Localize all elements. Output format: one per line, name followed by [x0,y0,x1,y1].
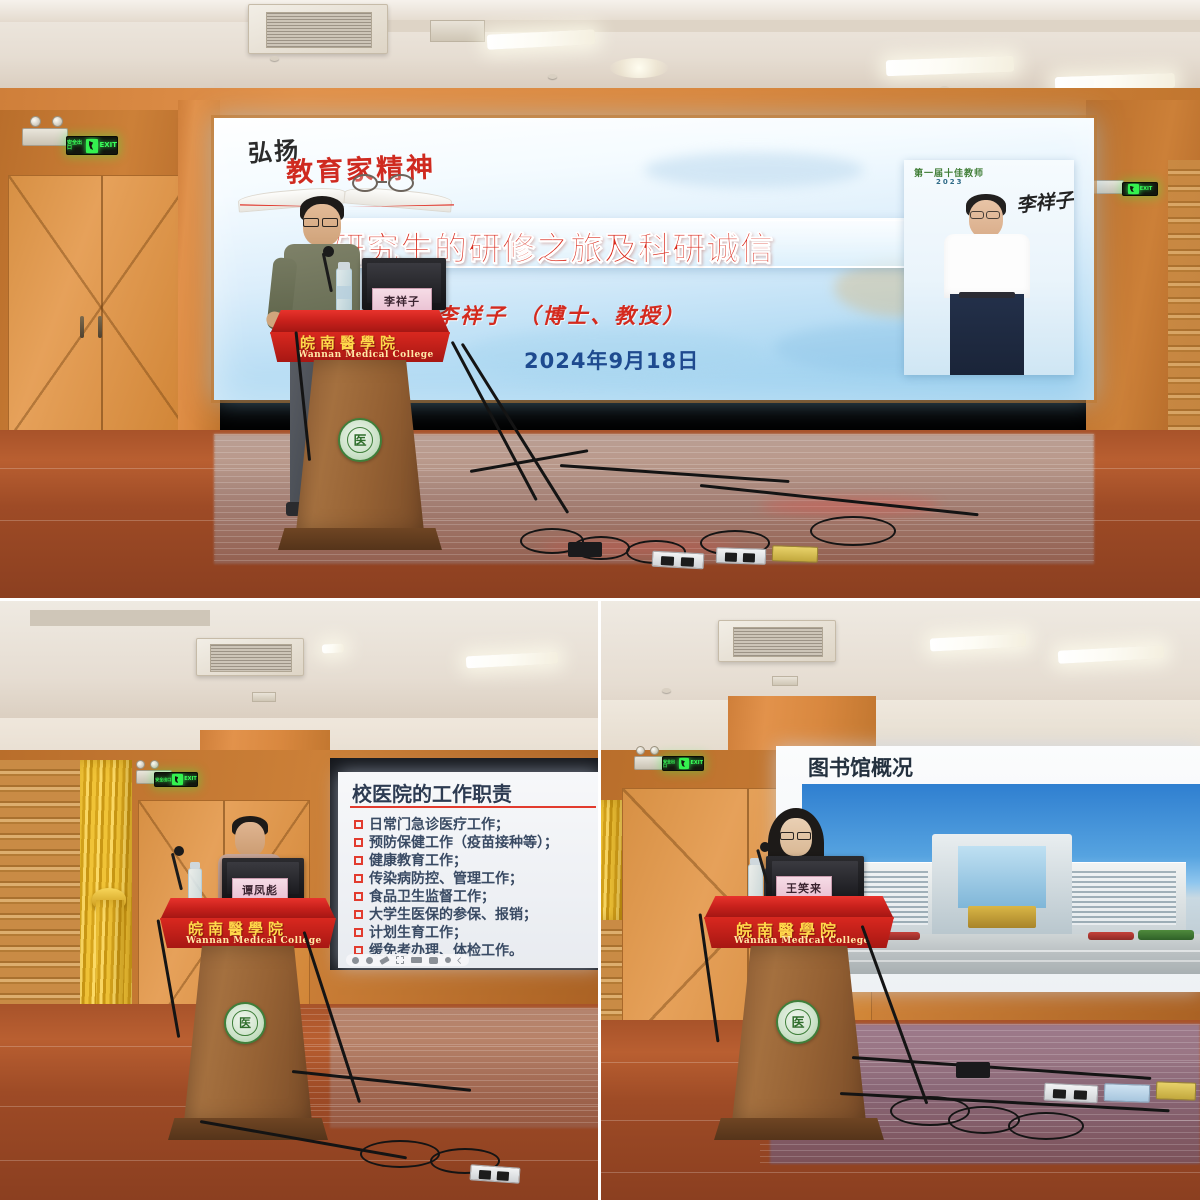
running-man-icon [172,774,183,785]
power-strip[interactable] [1044,1083,1099,1104]
power-socket [1074,1090,1087,1100]
ceiling-vent [252,692,276,702]
ceiling-spot-light [610,58,668,78]
emergency-lamp [650,746,659,755]
bullet-text: 计划生育工作； [369,922,467,942]
microphone-head [174,846,184,856]
slide-bullet: 传染病防控、管理工作； [354,868,523,888]
running-man-icon [1128,184,1139,194]
smoke-detector [662,688,671,693]
cable-coil [810,516,896,546]
ceiling-vent [430,20,485,42]
exit-sign: 安全出口 EXIT [154,772,198,787]
wood-slat-wall-right [1168,160,1200,460]
smoke-detector [548,74,557,79]
slide-bullet: 食品卫生监督工作； [354,886,495,906]
presenter-glasses-right [322,218,338,227]
more-icon[interactable] [445,957,451,963]
emergency-lamp [150,760,159,769]
emergency-lamp [30,116,41,127]
panel-campus-hospital: 安全出口 EXIT 校医院的工作职责 日常门急诊医疗工作； 预防保健工作（疫苗接… [0,600,600,1200]
podium-top-edge [704,896,894,919]
podium-name-en: Wannan Medical College [734,936,870,946]
podium-top-edge [270,310,450,334]
power-strip-gold[interactable] [1156,1081,1197,1100]
podium-name-en: Wannan Medical College [298,350,434,360]
podium-base [278,528,442,550]
slide-bullet: 日常门急诊医疗工作； [354,814,509,834]
bullet-text: 预防保健工作（疫苗接种等）； [369,832,558,852]
slide-title: 校医院的工作职责 [352,778,512,807]
collage-seam-vertical [598,600,601,1200]
podium-base [714,1118,884,1140]
floor-streaks [300,1008,600,1128]
exit-sign-label-cn: 安全出口 [67,141,85,151]
power-strip-blue[interactable] [1104,1083,1151,1103]
slide-bullet: 大学生医保的参保、报销； [354,904,537,924]
power-adapter [956,1062,990,1078]
power-strip[interactable] [470,1164,521,1183]
bullet-checkbox-icon [354,928,363,937]
microphone-head [323,246,334,257]
ceiling-vent [772,676,798,686]
exit-sign-label-cn: 安全出口 [663,760,678,768]
podium-emblem: 医 [338,418,382,462]
library-glass-facade [958,846,1046,908]
cable-coil [1008,1112,1084,1140]
power-strip[interactable] [716,547,767,565]
stage-curtain [600,800,622,920]
screen-icon[interactable] [411,957,422,963]
hedge [1138,930,1194,940]
door-split [101,176,103,439]
podium-top-edge [160,898,336,920]
bullet-text: 大学生医保的参保、报销； [369,904,537,924]
ceiling-soffit [0,0,1200,22]
power-strip[interactable] [652,551,705,570]
panel-library-overview: 安全出口 EXIT 图书馆概况 [600,600,1200,1200]
bullet-checkbox-icon [354,910,363,919]
water-bottle-cap [338,262,350,270]
exit-sign-right: EXIT [1122,182,1158,196]
presentation-toolbar[interactable] [346,954,469,966]
podium-emblem: 医 [224,1002,266,1044]
bullet-checkbox-icon [354,892,363,901]
exit-sign-label-cn: 安全出口 [155,778,171,782]
bullet-checkbox-icon [354,838,363,847]
podium-name-en: Wannan Medical College [186,936,322,946]
exit-sign-label: EXIT [690,761,703,766]
presenter-glasses-left [780,832,794,840]
ceiling-recess [30,610,210,626]
panel-main-lecture: 安全出口 EXIT EXIT 弘扬 教育家精神 [0,0,1200,600]
bullet-text: 健康教育工作； [369,850,467,870]
door-handle-right[interactable] [98,316,102,338]
prev-icon[interactable] [352,957,359,964]
podium-emblem: 医 [776,1000,820,1044]
ac-unit [196,638,304,676]
library-wing-right [1064,862,1186,936]
podium: 皖南醫學院 Wannan Medical College 医 [160,898,336,1148]
power-adapter [568,542,602,557]
bullet-checkbox-icon [354,820,363,829]
power-socket [725,552,737,561]
projected-slide: 校医院的工作职责 日常门急诊医疗工作； 预防保健工作（疫苗接种等）； 健康教育工… [338,772,600,968]
power-strip-gold[interactable] [772,545,819,563]
podium-emblem-glyph: 医 [232,1010,257,1035]
bullet-text: 食品卫生监督工作； [369,886,495,906]
running-man-icon [86,139,98,153]
ceiling-tube-light [322,643,344,653]
water-bottle-cap [190,862,200,869]
power-socket [681,557,694,567]
smoke-detector [270,56,279,61]
library-windows [1072,871,1176,925]
floor-seam [600,1172,1200,1173]
cable-coil [360,1140,440,1168]
slide-title-rule [350,806,596,808]
podium-nameplate-text: 王笑来 [786,880,822,896]
flower-bed [1088,932,1134,940]
presenter-head [235,822,265,856]
ac-unit [248,4,388,54]
podium-nameplate-text: 谭凤彪 [242,882,278,898]
podium-nameplate-text: 李祥子 [384,293,420,309]
running-man-icon [679,758,689,769]
presenter-glasses-left [303,218,319,227]
power-socket [497,1171,510,1181]
pointer-icon[interactable] [396,956,404,964]
door-left [8,175,194,440]
podium-emblem-glyph: 医 [785,1009,811,1035]
emergency-lamp [52,116,63,127]
power-socket [1053,1089,1066,1099]
pen-icon[interactable] [379,956,389,965]
exit-sign-label: EXIT [99,142,117,149]
exit-sign-left: 安全出口 EXIT [66,136,118,155]
power-socket [743,553,755,562]
exit-sign: 安全出口 EXIT [662,756,704,771]
bullet-text: 传染病防控、管理工作； [369,868,523,888]
exit-sign-label: EXIT [1140,187,1153,192]
emergency-lamp [636,746,645,755]
library-entrance-sign [968,906,1036,928]
bullet-text: 日常门急诊医疗工作； [369,814,509,834]
power-socket [479,1170,492,1180]
microphone-head [760,842,770,852]
slide-title: 图书馆概况 [808,752,913,782]
slide-bullet: 预防保健工作（疫苗接种等）； [354,832,558,852]
door-handle-left[interactable] [80,316,84,338]
emergency-light-box [22,128,68,146]
display-icon[interactable] [429,957,438,964]
floor-seam [0,520,1200,521]
water-bottle-label [336,286,352,299]
power-socket [661,556,674,566]
bullet-checkbox-icon [354,856,363,865]
bullet-checkbox-icon [354,874,363,883]
next-icon[interactable] [366,957,373,964]
slide-bullet: 健康教育工作； [354,850,467,870]
emergency-lamp [136,760,145,769]
floor-seam [0,1160,600,1161]
podium-emblem-glyph: 医 [347,427,373,453]
presenter-glasses-right [797,832,811,840]
collapse-icon[interactable] [457,956,464,963]
slide-bullet: 计划生育工作； [354,922,467,942]
photo-collage: 安全出口 EXIT EXIT 弘扬 教育家精神 [0,0,1200,1200]
exit-sign-label: EXIT [184,777,197,782]
ac-unit [718,620,836,662]
